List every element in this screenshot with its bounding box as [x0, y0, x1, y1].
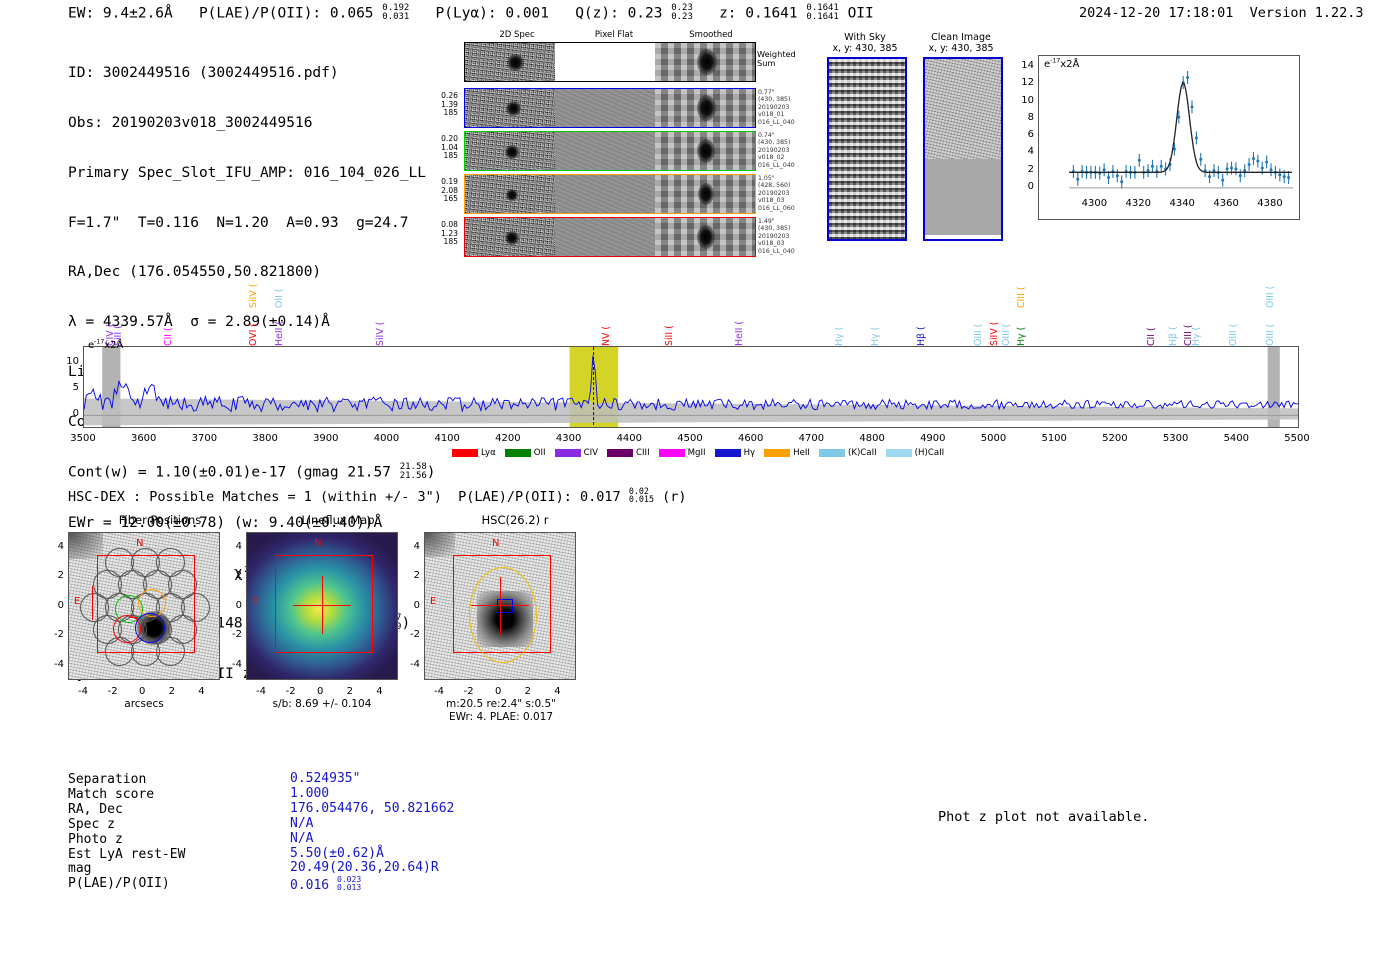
- cutout-ytick: 2: [216, 570, 242, 581]
- cutout-xtick: -2: [454, 686, 484, 697]
- cutout-xtick: 0: [305, 686, 335, 697]
- legend-swatch: [452, 449, 478, 457]
- cutout-xtick: -2: [276, 686, 306, 697]
- detail-value: 1.000: [290, 787, 329, 802]
- cutout-xtick: 4: [186, 686, 216, 697]
- legend-swatch: [819, 449, 845, 457]
- ytick: 5: [55, 382, 79, 393]
- xtick: 5200: [1090, 433, 1140, 444]
- legend-label: Hγ: [744, 448, 756, 458]
- spectrum-legend: LyαOIICIVCIIIMgIIHγHeII(K)CaII(H)CaII: [452, 448, 944, 458]
- detail-key: Photo z: [68, 833, 123, 848]
- detail-key: Separation: [68, 773, 146, 788]
- detail-value: 0.524935": [290, 772, 360, 787]
- legend-swatch: [659, 449, 685, 457]
- panel-2-left-values: 0.201.04185: [424, 135, 458, 161]
- qz-bounds: 0.230.23: [671, 4, 693, 22]
- fiber-highlight-blue: [135, 613, 165, 643]
- detail-value: 20.49(20.36,20.64)R: [290, 861, 439, 876]
- hsc-r-title: HSC(26.2) r: [420, 513, 610, 527]
- hsc-compass-n: N: [492, 538, 499, 549]
- panel-exposure-4: [464, 217, 756, 257]
- detail-plae-bounds: 0.0230.013: [337, 876, 361, 892]
- cutout-ytick: 2: [38, 570, 64, 581]
- panel-1-left-values: 0.261.39185: [424, 92, 458, 118]
- cutout-ytick: 0: [216, 600, 242, 611]
- xtick: 4300: [544, 433, 594, 444]
- full-spectrum-svg: [84, 347, 1298, 427]
- hsc-ellipse: [469, 567, 537, 663]
- line-label-OII: OII (: [274, 270, 285, 308]
- ytick: 2: [1010, 164, 1034, 175]
- line-label-OIII: OIII (: [1228, 308, 1239, 346]
- line-label-Hγ: Hγ (: [1191, 308, 1202, 346]
- xtick: 5000: [969, 433, 1019, 444]
- ytick: 0: [1010, 181, 1034, 192]
- z-bounds: 0.16410.1641: [806, 4, 838, 22]
- clean-image: [923, 57, 1003, 241]
- xtick: 3800: [240, 433, 290, 444]
- line-label-CIII: CIII (: [1016, 270, 1027, 308]
- line-label-CII: CII (: [1146, 308, 1157, 346]
- info-line-obs: Obs: 20190203v018_3002449516: [68, 115, 436, 132]
- xtick: 4400: [604, 433, 654, 444]
- legend-swatch: [764, 449, 790, 457]
- xtick: 4700: [786, 433, 836, 444]
- cutout-xtick: 2: [157, 686, 187, 697]
- xtick: 4380: [1248, 198, 1292, 209]
- ytick: 14: [1010, 60, 1034, 71]
- legend-label: Lyα: [481, 448, 496, 458]
- col-title-2dspec: 2D Spec: [482, 30, 552, 40]
- cutout-ytick: 2: [394, 570, 420, 581]
- ytick: 10: [1010, 95, 1034, 106]
- cutout-ytick: 0: [394, 600, 420, 611]
- cutout-ytick: -4: [394, 659, 420, 670]
- legend-label: OII: [534, 448, 546, 458]
- header-summary: EW: 9.4±2.6Å P(LAE)/P(OII): 0.065 0.1920…: [68, 4, 874, 22]
- panel-3-left-values: 0.192.08165: [424, 178, 458, 204]
- xtick: 3600: [119, 433, 169, 444]
- xtick: 5500: [1272, 433, 1322, 444]
- hsc-caption: m:20.5 re:2.4" s:0.5" EWr: 4. PLAE: 0.01…: [420, 698, 582, 724]
- line-zoom-svg: [1039, 56, 1299, 219]
- cutout-ytick: -4: [38, 659, 64, 670]
- timestamp-version: 2024-12-20 17:18:01 Version 1.22.3: [1079, 5, 1363, 21]
- emission-line-labels: CIV (SiII (CII (OVI (SiIV (HeII (OII (Si…: [0, 270, 1400, 350]
- detail-key: Est LyA rest-EW: [68, 848, 185, 863]
- fiber-caption: arcsecs: [68, 698, 220, 711]
- xtick: 5400: [1211, 433, 1261, 444]
- cutout-xtick: 2: [335, 686, 365, 697]
- detail-value: 176.054476, 50.821662: [290, 802, 454, 817]
- cutout-xtick: 4: [364, 686, 394, 697]
- cutout-ytick: 4: [38, 541, 64, 552]
- line-label-OIII: OIII (: [1265, 308, 1276, 346]
- gmag-bounds: 21.5821.56: [400, 463, 427, 481]
- lineflux-compass-e: E: [252, 596, 258, 607]
- xtick: 4320: [1116, 198, 1160, 209]
- info-line-params: F=1.7" T=0.116 N=1.20 A=0.93 g=24.7: [68, 215, 436, 232]
- line-label-HeII: HeII (: [734, 308, 745, 346]
- xtick: 3700: [179, 433, 229, 444]
- line-label-OVI: OVI (: [248, 308, 259, 346]
- cutout-ytick: 4: [394, 541, 420, 552]
- clean-image-title: Clean Image x, y: 430, 385: [911, 32, 1011, 54]
- cutout-xtick: -4: [246, 686, 276, 697]
- cutout-xtick: 4: [542, 686, 572, 697]
- legend-label: (K)CaII: [848, 448, 877, 458]
- plae-ratio-bounds: 0.1920.031: [382, 4, 409, 22]
- xtick: 5100: [1029, 433, 1079, 444]
- panel-4-left-values: 0.081.23185: [424, 221, 458, 247]
- col-title-smoothed: Smoothed: [676, 30, 746, 40]
- detail-value: N/A: [290, 832, 313, 847]
- detail-value: N/A: [290, 817, 313, 832]
- line-label-OIII: OIII (: [1001, 308, 1012, 346]
- panel-weighted-sum: [464, 42, 756, 82]
- fiber-positions-image: [68, 532, 220, 680]
- cutout-ytick: -2: [394, 629, 420, 640]
- line-label-SiII: SiII (: [664, 308, 675, 346]
- lineflux-map-title: Lineflux Map: [243, 513, 433, 527]
- xtick: 4900: [908, 433, 958, 444]
- line-label-Hγ: Hγ (: [834, 308, 845, 346]
- legend-swatch: [555, 449, 581, 457]
- ytick: 8: [1010, 112, 1034, 123]
- xtick: 4340: [1160, 198, 1204, 209]
- line-label-HeII: HeII (: [274, 308, 285, 346]
- legend-swatch: [607, 449, 633, 457]
- panel-4-right-values: 1.49"(430, 385)20190203v018_03016_LL_040: [758, 218, 804, 255]
- cutout-xtick: 0: [127, 686, 157, 697]
- panel-exposure-1: [464, 88, 756, 128]
- hsc-blue-box: [497, 599, 513, 613]
- ytick: 4: [1010, 146, 1034, 157]
- legend-item: HeII: [764, 448, 810, 458]
- xtick: 4800: [847, 433, 897, 444]
- ytick: 12: [1010, 77, 1034, 88]
- match-details-table: Separation0.524935"Match score1.000RA, D…: [68, 773, 528, 903]
- xtick: 5300: [1151, 433, 1201, 444]
- cutout-xtick: 0: [483, 686, 513, 697]
- panel-1-right-values: 0.77"(430, 385)20190203v018_01016_LL_040: [758, 89, 804, 126]
- detail-key: mag: [68, 862, 91, 877]
- line-zoom-units: e-17x2Å: [1044, 59, 1079, 70]
- cutout-ytick: 4: [216, 541, 242, 552]
- xtick: 4300: [1072, 198, 1116, 209]
- legend-label: CIV: [584, 448, 598, 458]
- hsc-r-image: [424, 532, 576, 680]
- legend-swatch: [715, 449, 741, 457]
- weighted-sum-label: Weighted Sum: [757, 50, 796, 69]
- panel-3-right-values: 1.05"(428, 560)20190203v018_03016_LL_060: [758, 175, 804, 212]
- panel-2-right-values: 0.74"(430, 385)20190203v018_02016_LL_040: [758, 132, 804, 169]
- cutout-xtick: -2: [98, 686, 128, 697]
- col-title-pixelflat: Pixel Flat: [579, 30, 649, 40]
- legend-item: CIV: [555, 448, 598, 458]
- fiber-positions-title: Fiber Positions: [65, 513, 255, 527]
- line-label-Hβ: Hβ (: [1168, 308, 1179, 346]
- lineflux-caption: s/b: 8.69 +/- 0.104: [246, 698, 398, 711]
- lineflux-compass-n: N: [314, 538, 321, 549]
- info-line-slot: Primary Spec_Slot_IFU_AMP: 016_104_026_L…: [68, 165, 436, 182]
- with-sky-image: [827, 57, 907, 241]
- legend-item: OII: [505, 448, 546, 458]
- fiber-compass-e: E: [74, 596, 80, 607]
- xtick: 4500: [665, 433, 715, 444]
- legend-item: MgII: [659, 448, 706, 458]
- line-label-OIII: OIII (: [1265, 270, 1276, 308]
- ytick: 6: [1010, 129, 1034, 140]
- panel-exposure-2: [464, 131, 756, 171]
- line-label-SiIV: SiIV (: [989, 308, 1000, 346]
- fiber-compass-n: N: [136, 538, 143, 549]
- xtick: 4600: [726, 433, 776, 444]
- line-label-NV: NV (: [601, 308, 612, 346]
- legend-item: Hγ: [715, 448, 756, 458]
- info-line-contw: Cont(w) = 1.10(±0.01)e-17 (gmag 21.57 21…: [68, 463, 436, 481]
- line-label-SiIV: SiIV (: [248, 270, 259, 308]
- line-label-Hγ: Hγ (: [870, 308, 881, 346]
- legend-item: (K)CaII: [819, 448, 877, 458]
- detail-value: 0.016 0.0230.013: [290, 876, 361, 894]
- xtick: 4000: [362, 433, 412, 444]
- legend-label: CIII: [636, 448, 650, 458]
- cutout-ytick: -2: [216, 629, 242, 640]
- line-label-Hβ: Hβ (: [916, 308, 927, 346]
- ytick: 10: [55, 356, 79, 367]
- legend-swatch: [886, 449, 912, 457]
- legend-item: CIII: [607, 448, 650, 458]
- panel-exposure-3: [464, 174, 756, 214]
- xtick: 3900: [301, 433, 351, 444]
- detail-value: 5.50(±0.62)Å: [290, 847, 384, 862]
- legend-item: Lyα: [452, 448, 496, 458]
- cutout-ytick: -2: [38, 629, 64, 640]
- lineflux-red-box: [275, 555, 373, 653]
- legend-label: (H)CaII: [915, 448, 945, 458]
- photz-note: Phot z plot not available.: [938, 809, 1149, 825]
- hsc-compass-e: E: [430, 596, 436, 607]
- cutout-xtick: -4: [68, 686, 98, 697]
- legend-item: (H)CaII: [886, 448, 945, 458]
- with-sky-title: With Sky x, y: 430, 385: [820, 32, 910, 54]
- line-label-SiIV: SiIV (: [375, 308, 386, 346]
- line-label-CII: CII (: [163, 308, 174, 346]
- hscdex-summary: HSC-DEX : Possible Matches = 1 (within +…: [68, 487, 687, 505]
- cutout-xtick: 2: [513, 686, 543, 697]
- cutout-xtick: -4: [424, 686, 454, 697]
- xtick: 4100: [422, 433, 472, 444]
- xtick: 4360: [1204, 198, 1248, 209]
- legend-label: HeII: [793, 448, 810, 458]
- full-spectrum-plot: [83, 346, 1299, 428]
- line-zoom-plot: [1038, 55, 1300, 220]
- legend-swatch: [505, 449, 531, 457]
- full-spectrum-units: e-17x2Å: [88, 340, 123, 351]
- xtick: 3500: [58, 433, 108, 444]
- detail-key: RA, Dec: [68, 803, 123, 818]
- cutout-ytick: 0: [38, 600, 64, 611]
- ytick: 0: [55, 408, 79, 419]
- lineflux-map-image: [246, 532, 398, 680]
- line-label-OIII: OIII (: [973, 308, 984, 346]
- info-line-id: ID: 3002449516 (3002449516.pdf): [68, 65, 436, 82]
- detail-key: Match score: [68, 788, 154, 803]
- cutout-ytick: -4: [216, 659, 242, 670]
- legend-label: MgII: [688, 448, 706, 458]
- hscdex-plae-bounds: 0.020.015: [629, 487, 654, 504]
- spec2d-strip: 2D Spec Pixel Flat Smoothed Weighted Sum…: [424, 30, 819, 250]
- xtick: 4200: [483, 433, 533, 444]
- line-label-Hγ: Hγ (: [1016, 308, 1027, 346]
- detail-key: P(LAE)/P(OII): [68, 877, 170, 892]
- detail-key: Spec z: [68, 818, 115, 833]
